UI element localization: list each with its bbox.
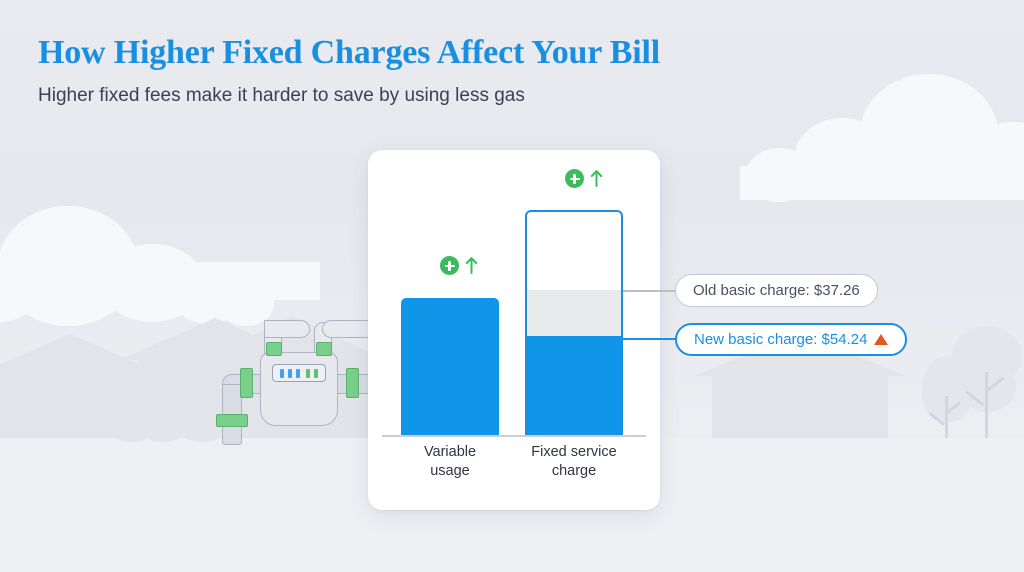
plus-circle-icon (565, 169, 584, 188)
cloud-right (740, 92, 1024, 202)
axis-label-fixed-service-charge: Fixed service charge (512, 443, 636, 481)
leader-line-old-charge (623, 290, 681, 292)
callout-new-basic-charge[interactable]: New basic charge: $54.24 (675, 323, 907, 356)
page-title: How Higher Fixed Charges Affect Your Bil… (38, 34, 660, 72)
axis-label-variable-usage: Variable usage (392, 443, 508, 481)
axis-label-line2: charge (512, 462, 636, 481)
callout-old-basic-charge[interactable]: Old basic charge: $37.26 (675, 274, 878, 307)
triangle-up-icon (874, 334, 888, 345)
infographic-canvas: How Higher Fixed Charges Affect Your Bil… (0, 0, 1024, 572)
chart-baseline (382, 435, 646, 437)
up-arrow-icon (590, 170, 603, 187)
tree-large (952, 326, 1024, 438)
callout-old-text: Old basic charge: $37.26 (693, 282, 860, 299)
marker-variable-usage (440, 256, 478, 275)
callout-new-text: New basic charge: $54.24 (694, 331, 867, 348)
bar-fixed-service-charge[interactable] (525, 210, 623, 436)
meter-display (272, 364, 326, 382)
bush (108, 398, 228, 440)
cloud-left (0, 190, 320, 300)
leader-line-new-charge (623, 338, 683, 340)
plus-circle-icon (440, 256, 459, 275)
axis-label-line1: Variable (392, 443, 508, 462)
axis-label-line1: Fixed service (512, 443, 636, 462)
bar-zone-old-charge (527, 290, 621, 340)
bar-variable-usage[interactable] (401, 298, 499, 436)
up-arrow-icon (465, 257, 478, 274)
axis-label-line2: usage (392, 462, 508, 481)
marker-fixed-service-charge (565, 169, 603, 188)
page-subtitle: Higher fixed fees make it harder to save… (38, 85, 525, 107)
bar-zone-new-charge (527, 336, 621, 434)
